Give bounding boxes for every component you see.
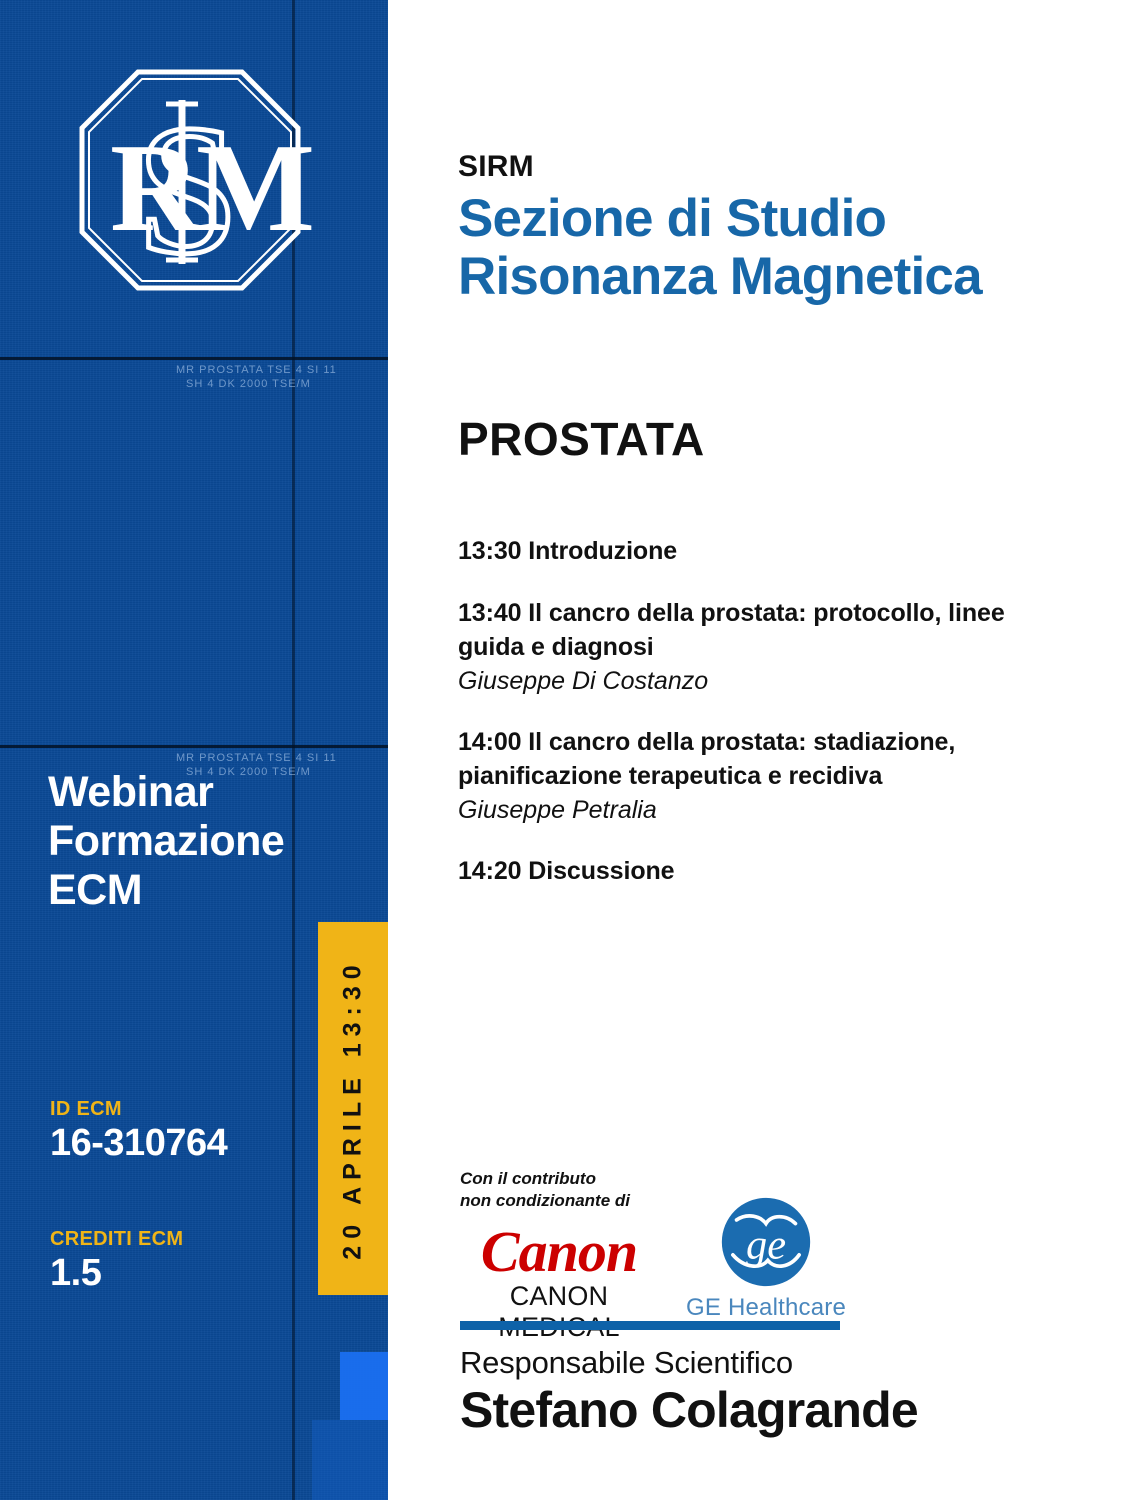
svg-text:ge: ge	[746, 1222, 786, 1269]
program-item: 14:20 Discussione	[458, 855, 1038, 889]
scientific-director-name: Stefano Colagrande	[460, 1382, 1060, 1438]
webinar-line: Webinar	[48, 768, 348, 817]
mri-scan-label: MR PROSTATA TSE 4 SI 11	[176, 364, 337, 376]
program-item-title: 14:00 Il cancro della prostata: stadiazi…	[458, 726, 1038, 794]
sponsor-note: Con il contributo non condizionante di	[460, 1168, 630, 1212]
scientific-director-label: Responsabile Scientifico	[460, 1345, 1060, 1382]
program-item-title: 13:30 Introduzione	[458, 535, 1038, 569]
ecm-id-group: ID ECM 16-310764	[50, 1098, 227, 1162]
program-item-title: 13:40 Il cancro della prostata: protocol…	[458, 597, 1038, 665]
topic-heading: PROSTATA	[458, 412, 705, 466]
canon-subtitle: CANON MEDICAL	[460, 1281, 658, 1343]
blue-accent-block	[340, 1352, 388, 1420]
mri-slice-seam	[0, 357, 388, 360]
section-divider	[460, 1321, 840, 1330]
program-item: 13:40 Il cancro della prostata: protocol…	[458, 597, 1038, 698]
ecm-id-value: 16-310764	[50, 1124, 227, 1162]
page-title-line: Risonanza Magnetica	[458, 248, 1058, 306]
program-item-speaker: Giuseppe Petralia	[458, 794, 1038, 827]
webinar-heading: Webinar Formazione ECM	[48, 768, 348, 915]
page-title-line: Sezione di Studio	[458, 190, 1058, 248]
organization-kicker: SIRM	[458, 150, 534, 184]
mri-slice-seam	[0, 745, 388, 748]
ecm-credits-label: CREDITI ECM	[50, 1228, 183, 1251]
mri-scan-label: SH 4 DK 2000 TSE/M	[186, 378, 311, 390]
program-item-title: 14:20 Discussione	[458, 855, 1038, 889]
blue-accent-block-secondary	[312, 1420, 388, 1500]
program-item-speaker: Giuseppe Di Costanzo	[458, 665, 1038, 698]
sirm-logo: R M S	[62, 52, 318, 308]
sponsor-note-line: non condizionante di	[460, 1190, 630, 1212]
ecm-id-label: ID ECM	[50, 1098, 227, 1121]
ecm-credits-value: 1.5	[50, 1254, 183, 1292]
canon-wordmark: Canon	[460, 1224, 658, 1279]
program-item: 13:30 Introduzione	[458, 535, 1038, 569]
mri-scan-label: MR PROSTATA TSE 4 SI 11	[176, 752, 337, 764]
ge-subtitle: GE Healthcare	[686, 1294, 846, 1322]
ge-monogram-icon: ge	[720, 1196, 812, 1288]
program-schedule: 13:30 Introduzione 13:40 Il cancro della…	[458, 535, 1038, 917]
webinar-line: Formazione	[48, 817, 348, 866]
left-mri-panel: MR PROSTATA TSE 4 SI 11 SH 4 DK 2000 TSE…	[0, 0, 388, 1500]
program-item: 14:00 Il cancro della prostata: stadiazi…	[458, 726, 1038, 827]
page-title: Sezione di Studio Risonanza Magnetica	[458, 190, 1058, 307]
content-column: SIRM Sezione di Studio Risonanza Magneti…	[458, 0, 1058, 1500]
date-strip-text: 20 APRILE 13:30	[339, 958, 368, 1259]
scientific-director-block: Responsabile Scientifico Stefano Colagra…	[460, 1345, 1060, 1438]
ge-healthcare-logo: ge GE Healthcare	[686, 1196, 846, 1322]
date-strip: 20 APRILE 13:30	[318, 922, 388, 1295]
ecm-credits-group: CREDITI ECM 1.5	[50, 1228, 183, 1292]
webinar-line: ECM	[48, 866, 348, 915]
sponsor-note-line: Con il contributo	[460, 1168, 630, 1190]
